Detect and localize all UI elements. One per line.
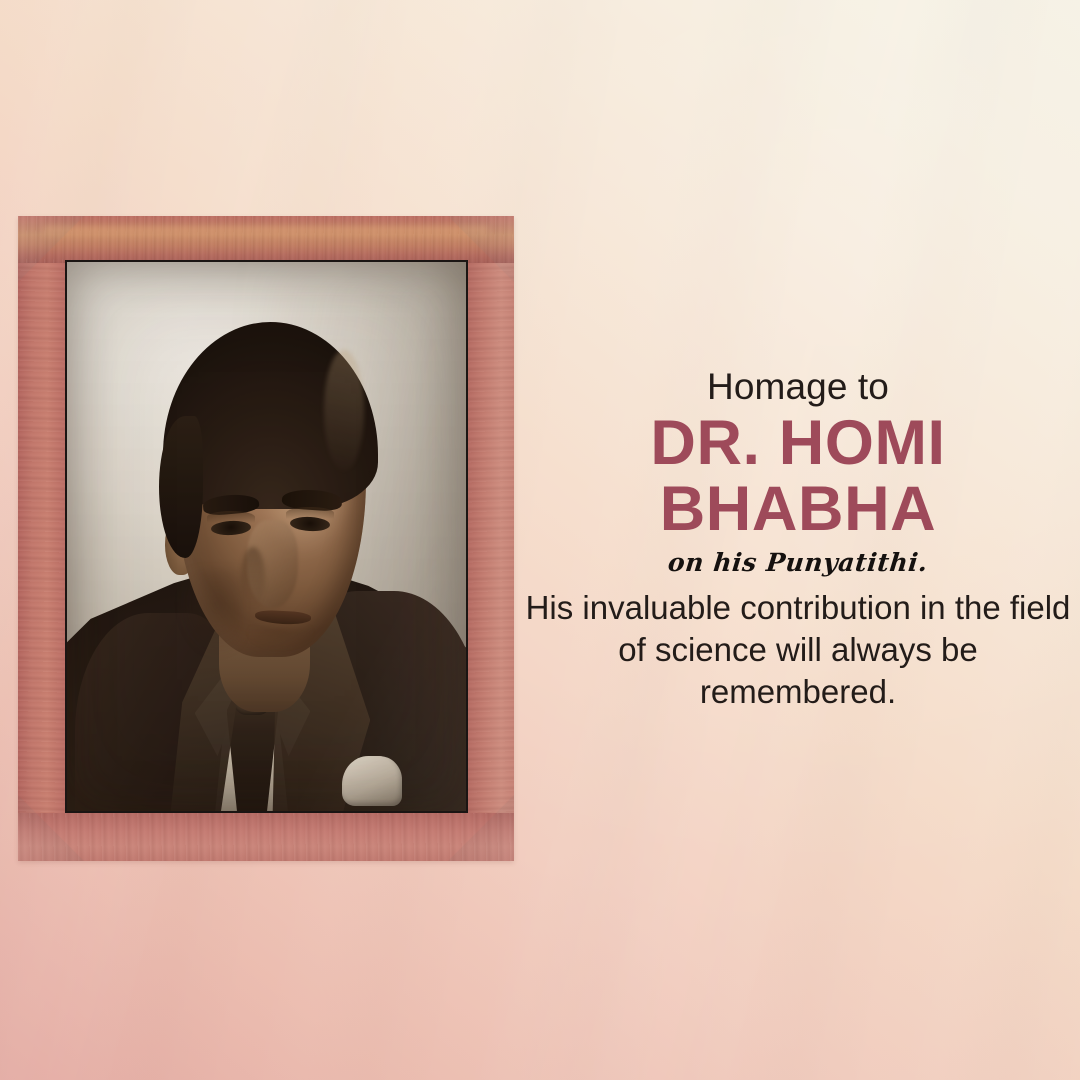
frame-rail-top [18, 216, 514, 263]
tribute-text-block: Homage to DR. HOMI BHABHA on his Punyati… [516, 368, 1080, 713]
frame-rail-bottom [18, 813, 514, 861]
homage-poster: Homage to DR. HOMI BHABHA on his Punyati… [0, 0, 1080, 1080]
honoree-name: DR. HOMI BHABHA [516, 411, 1080, 542]
portrait-photo [67, 262, 466, 811]
frame-rail-right [468, 216, 514, 861]
portrait-frame [18, 216, 514, 861]
photo-mount [65, 260, 468, 813]
tribute-message: His invaluable contribution in the field… [516, 587, 1080, 713]
photo-vignette [67, 262, 466, 811]
honoree-name-line-1: DR. HOMI [516, 411, 1080, 477]
frame-top-highlight [44, 226, 488, 241]
occasion-script: on his Punyatithi. [514, 548, 1080, 577]
honoree-name-line-2: BHABHA [516, 477, 1080, 543]
frame-rail-left [18, 216, 65, 861]
homage-eyebrow: Homage to [516, 368, 1080, 405]
